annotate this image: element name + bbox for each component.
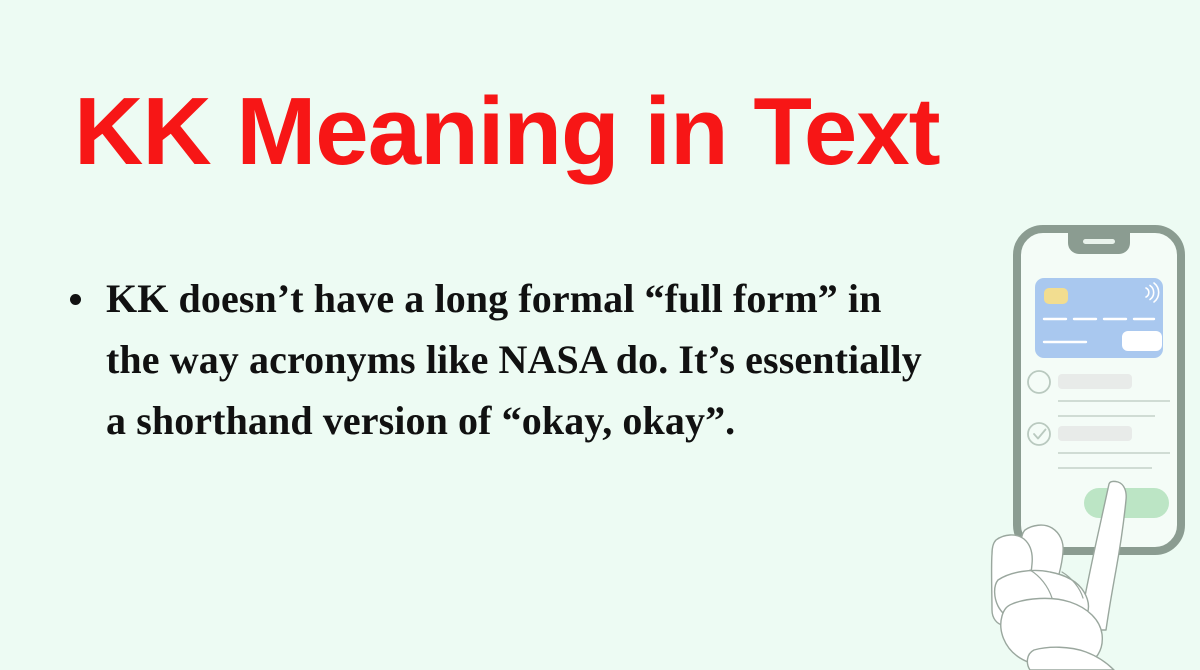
row-label-placeholder [1058, 374, 1132, 389]
card-chip-icon [1044, 288, 1068, 304]
bullet-list: KK doesn’t have a long formal “full form… [60, 268, 940, 451]
credit-card [1035, 278, 1163, 358]
card-brand-badge [1122, 331, 1162, 351]
row-label-placeholder [1058, 426, 1132, 441]
slide-canvas: KK Meaning in Text KK doesn’t have a lon… [0, 0, 1200, 670]
phone-notch [1068, 233, 1130, 254]
bullet-dot-icon [70, 294, 81, 305]
list-item: KK doesn’t have a long formal “full form… [60, 268, 940, 451]
hand-tapping-phone-illustration [990, 200, 1200, 670]
page-title: KK Meaning in Text [74, 82, 994, 183]
list-item-text: KK doesn’t have a long formal “full form… [106, 276, 922, 443]
